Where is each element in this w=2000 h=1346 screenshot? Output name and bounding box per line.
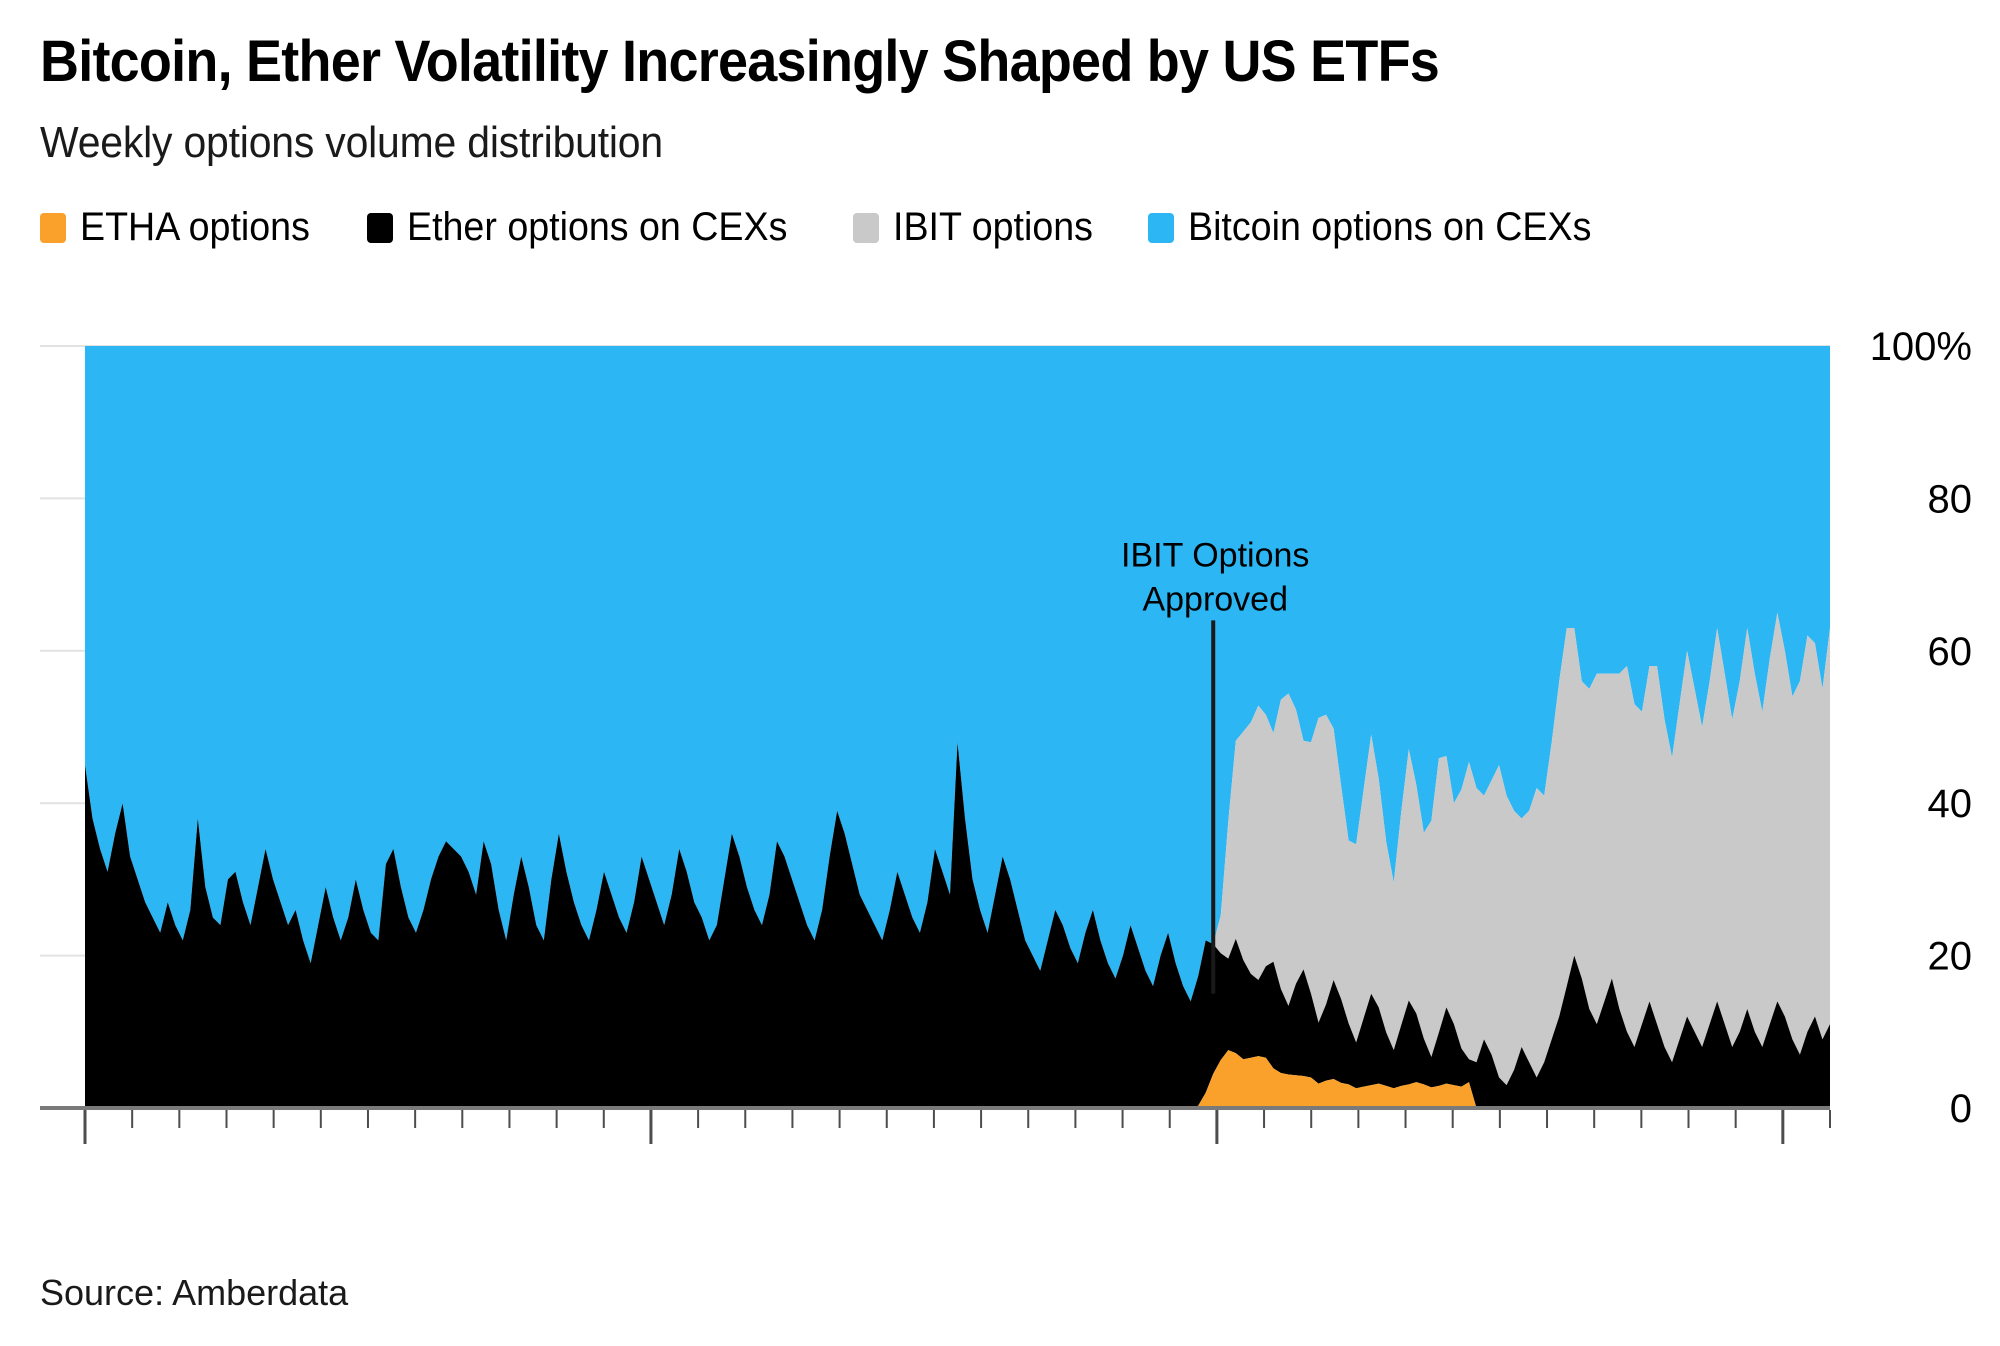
stacked-area-chart: 020406080100%2023202420252026IBIT Option… [0,300,2000,1160]
y-tick-label: 80 [1928,477,1973,521]
chart-legend: ETHA optionsEther options on CEXsIBIT op… [40,205,1659,250]
legend-swatch-ibit-icon [853,213,879,243]
legend-label: Ether options on CEXs [407,205,787,250]
chart-area: 020406080100%2023202420252026IBIT Option… [0,300,2000,1160]
x-axis: 2023202420252026 [28,1108,1830,1160]
chart-page: Bitcoin, Ether Volatility Increasingly S… [0,0,2000,1346]
legend-swatch-btc_cex-icon [1148,213,1174,243]
stacked-areas [85,346,1830,1108]
source-note: Source: Amberdata [40,1272,348,1314]
y-axis-labels: 020406080100% [1870,325,1972,1131]
legend-label: Bitcoin options on CEXs [1188,205,1591,250]
y-tick-label: 0 [1950,1087,1972,1131]
legend-item-btc_cex[interactable]: Bitcoin options on CEXs [1148,205,1617,250]
legend-item-ibit[interactable]: IBIT options [853,205,1106,250]
annotation-line: IBIT Options [1121,536,1309,574]
legend-swatch-etha-icon [40,213,66,243]
y-tick-label: 20 [1928,935,1973,979]
legend-label: ETHA options [80,205,310,250]
page-title: Bitcoin, Ether Volatility Increasingly S… [40,28,1439,95]
chart-subtitle: Weekly options volume distribution [40,118,663,168]
legend-swatch-ether_cex-icon [367,213,393,243]
y-tick-label: 40 [1928,782,1973,826]
y-tick-label: 100% [1870,325,1972,369]
legend-item-ether_cex[interactable]: Ether options on CEXs [367,205,812,250]
legend-label: IBIT options [893,205,1093,250]
y-tick-label: 60 [1928,630,1973,674]
annotation-line: Approved [1142,580,1288,618]
legend-item-etha[interactable]: ETHA options [40,205,325,250]
